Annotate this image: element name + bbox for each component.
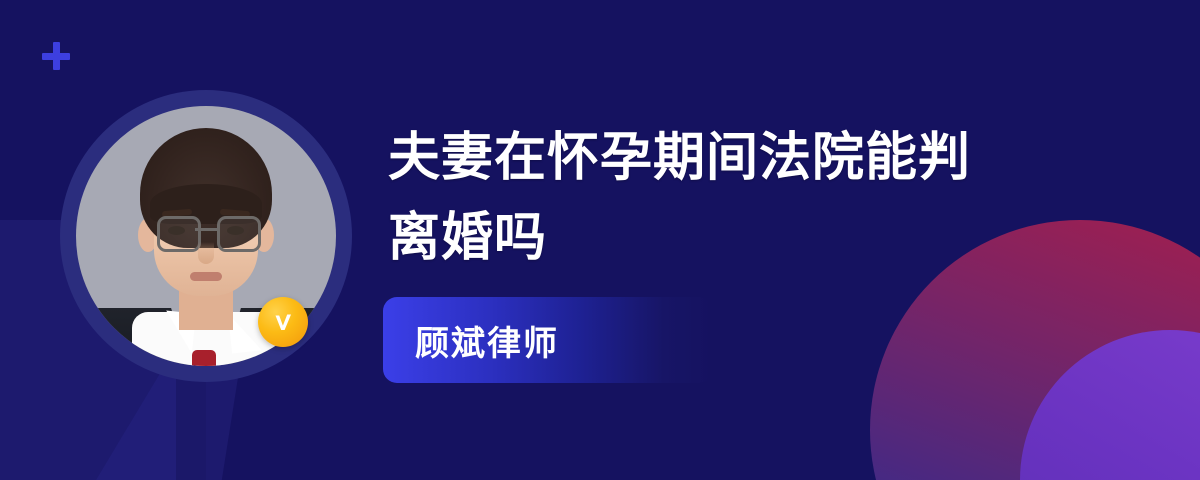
lawyer-name-button[interactable]: 顾斌律师 (383, 297, 713, 383)
promo-banner: 夫妻在怀孕期间法院能判 离婚吗 顾斌律师 (0, 0, 1200, 480)
portrait-glasses-left (157, 216, 201, 252)
portrait-glasses-right (217, 216, 261, 252)
portrait-glasses-bridge (195, 228, 217, 231)
content-column: 夫妻在怀孕期间法院能判 离婚吗 (388, 118, 1148, 278)
check-v-icon (268, 307, 298, 337)
verified-badge (258, 297, 308, 347)
portrait-tie-knot (192, 350, 216, 366)
page-title: 夫妻在怀孕期间法院能判 离婚吗 (388, 118, 1148, 278)
decor-blob-inner (1020, 330, 1200, 480)
portrait-mouth (190, 272, 222, 281)
portrait-nose (198, 242, 214, 264)
portrait-collar-right (228, 311, 262, 354)
plus-icon-bar-vertical (53, 42, 60, 70)
avatar (60, 90, 352, 382)
plus-icon (42, 42, 70, 70)
